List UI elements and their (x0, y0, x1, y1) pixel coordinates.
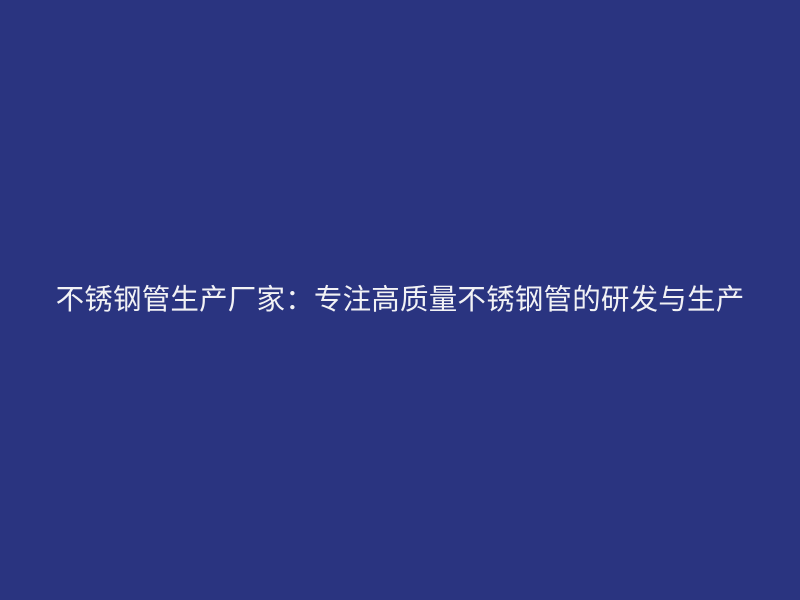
banner-background: 不锈钢管生产厂家：专注高质量不锈钢管的研发与生产 (0, 0, 800, 600)
page-title: 不锈钢管生产厂家：专注高质量不锈钢管的研发与生产 (44, 273, 756, 328)
headline-container: 不锈钢管生产厂家：专注高质量不锈钢管的研发与生产 (44, 273, 756, 328)
